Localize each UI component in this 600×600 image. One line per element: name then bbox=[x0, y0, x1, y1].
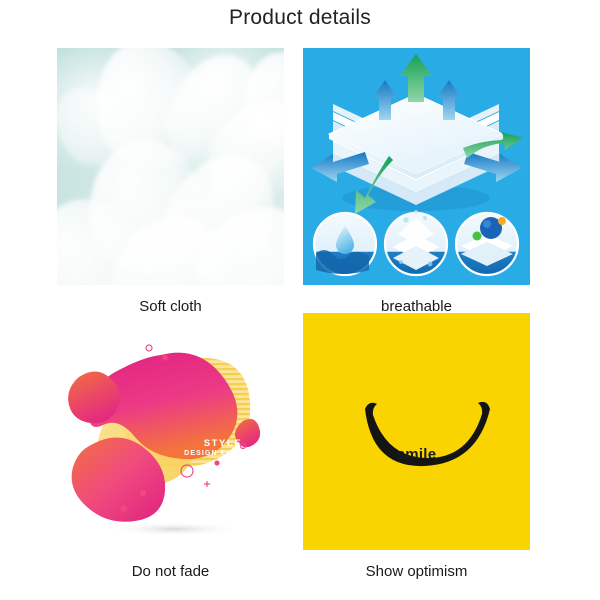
breathable-diagram-svg bbox=[303, 48, 530, 285]
do-not-fade-image[interactable]: STYLE DESIGN ELEMENT bbox=[57, 313, 284, 550]
smile-word: smile bbox=[303, 446, 530, 463]
caption-do-not-fade: Do not fade bbox=[57, 563, 284, 580]
water-drop-inset bbox=[314, 213, 376, 275]
caption-show-optimism: Show optimism bbox=[303, 563, 530, 580]
product-feature-grid: Soft cloth bbox=[0, 48, 600, 578]
feature-row-1: Soft cloth bbox=[0, 48, 600, 313]
fluid-shapes-image: STYLE DESIGN ELEMENT bbox=[57, 313, 284, 550]
blob-shadow bbox=[109, 522, 241, 536]
fluid-shapes-svg bbox=[57, 313, 284, 550]
smile-image: smile bbox=[303, 313, 530, 550]
breathable-layers-image bbox=[303, 48, 530, 285]
feature-cell-do-not-fade[interactable]: STYLE DESIGN ELEMENT Do not fade bbox=[57, 313, 284, 580]
feature-row-2: STYLE DESIGN ELEMENT Do not fade sm bbox=[0, 313, 600, 578]
breathable-image[interactable] bbox=[303, 48, 530, 285]
product-details-page: Product details bbox=[0, 0, 600, 600]
smile-background bbox=[303, 313, 530, 550]
smile-svg bbox=[303, 313, 530, 550]
page-title: Product details bbox=[0, 6, 600, 30]
feature-cell-breathable[interactable]: breathable bbox=[303, 48, 530, 315]
show-optimism-image[interactable]: smile bbox=[303, 313, 530, 550]
feature-cell-soft-cloth[interactable]: Soft cloth bbox=[57, 48, 284, 315]
feathers-image bbox=[57, 48, 284, 285]
feature-cell-show-optimism[interactable]: smile Show optimism bbox=[303, 313, 530, 580]
antibacterial-inset bbox=[456, 213, 518, 275]
soft-cloth-image[interactable] bbox=[57, 48, 284, 285]
